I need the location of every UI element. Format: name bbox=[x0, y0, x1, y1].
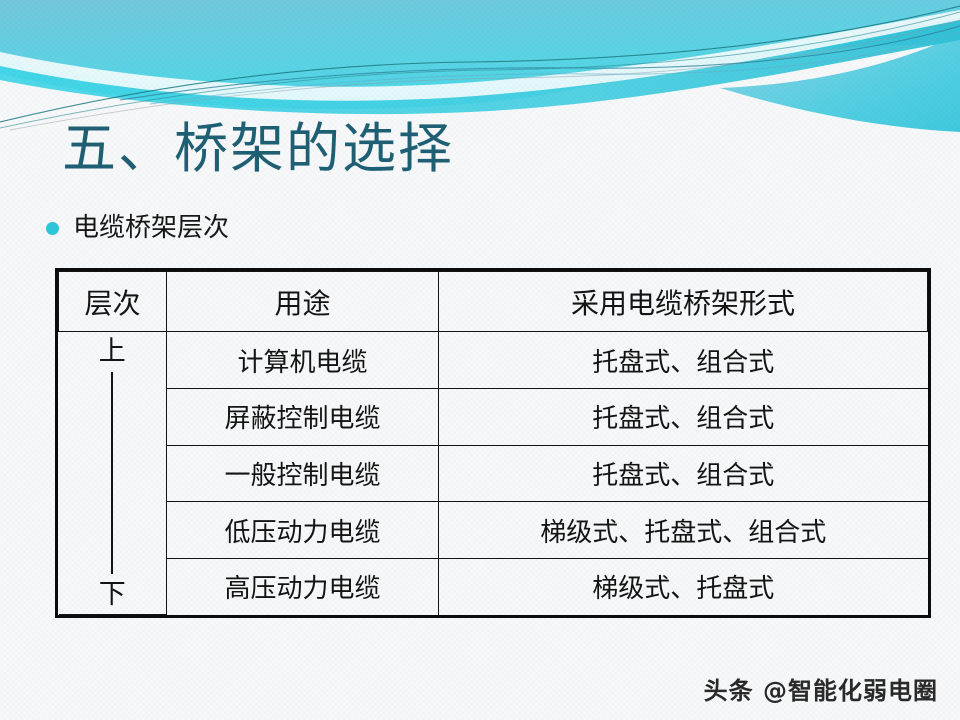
page-title: 五、桥架的选择 bbox=[62, 120, 454, 178]
cell-use: 低压动力电缆 bbox=[167, 502, 439, 559]
column-header-level: 层次 bbox=[59, 272, 167, 332]
table-grid: 层次 用途 采用电缆桥架形式 上 下 计算机电缆 托盘式、组合式 bbox=[58, 271, 928, 615]
column-header-use: 用途 bbox=[167, 272, 439, 332]
cell-form: 托盘式、组合式 bbox=[439, 332, 928, 389]
cell-use: 一般控制电缆 bbox=[167, 445, 439, 502]
cell-form: 托盘式、组合式 bbox=[439, 445, 928, 502]
table-row: 屏蔽控制电缆 托盘式、组合式 bbox=[59, 389, 928, 446]
round-bullet-icon bbox=[46, 222, 59, 235]
bullet-item-label: 电缆桥架层次 bbox=[73, 215, 229, 241]
level-indicator-cell: 上 下 bbox=[59, 332, 167, 615]
bullet-list-item: 电缆桥架层次 bbox=[46, 215, 229, 241]
cell-use: 计算机电缆 bbox=[167, 332, 439, 389]
table-row: 低压动力电缆 梯级式、托盘式、组合式 bbox=[59, 502, 928, 559]
level-bottom-label: 下 bbox=[99, 581, 126, 608]
table-header-row: 层次 用途 采用电缆桥架形式 bbox=[59, 272, 928, 332]
cell-form: 梯级式、托盘式、组合式 bbox=[439, 502, 928, 559]
cell-use: 高压动力电缆 bbox=[167, 559, 439, 615]
level-axis-line bbox=[111, 372, 113, 574]
slide-canvas: 五、桥架的选择 电缆桥架层次 层次 用途 采用电缆桥架形式 上 bbox=[0, 0, 960, 720]
watermark-text: 头条 @智能化弱电圈 bbox=[704, 671, 938, 706]
cell-form: 梯级式、托盘式 bbox=[439, 559, 928, 615]
table-row: 高压动力电缆 梯级式、托盘式 bbox=[59, 559, 928, 615]
level-top-label: 上 bbox=[99, 338, 126, 365]
table-row: 上 下 计算机电缆 托盘式、组合式 bbox=[59, 332, 928, 389]
level-indicator: 上 下 bbox=[59, 332, 167, 614]
cell-form: 托盘式、组合式 bbox=[439, 389, 928, 446]
cell-use: 屏蔽控制电缆 bbox=[167, 389, 439, 446]
header-banner-decoration bbox=[0, 0, 960, 132]
column-header-form: 采用电缆桥架形式 bbox=[439, 272, 928, 332]
cable-tray-level-table: 层次 用途 采用电缆桥架形式 上 下 计算机电缆 托盘式、组合式 bbox=[55, 268, 931, 618]
table-row: 一般控制电缆 托盘式、组合式 bbox=[59, 445, 928, 502]
